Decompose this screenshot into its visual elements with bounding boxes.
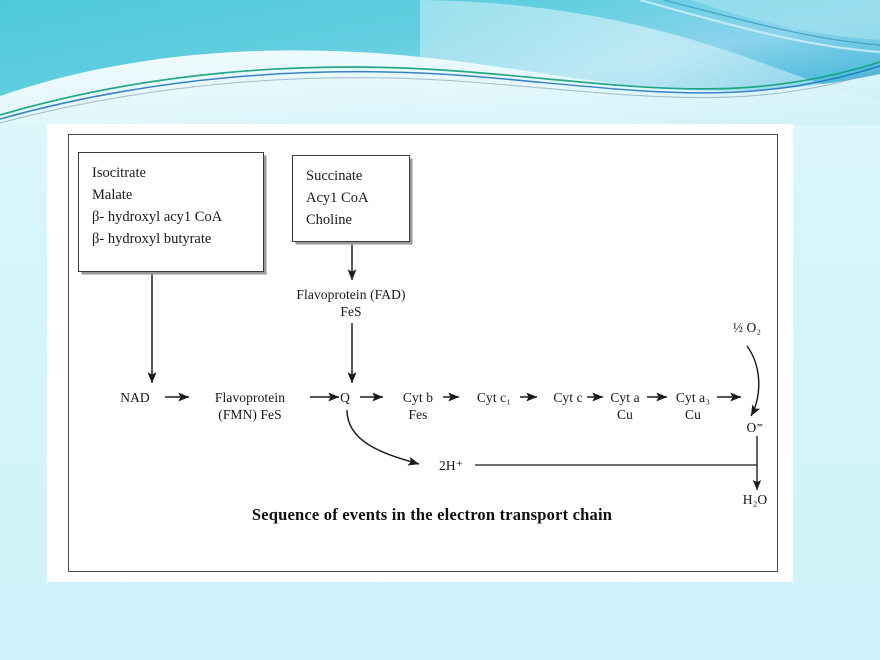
node-cytochrome-a: Cyt a Cu: [599, 390, 651, 424]
node-flavoprotein-fad: Flavoprotein (FAD) FeS: [277, 287, 425, 321]
node-oxide-ion: O⁼: [733, 420, 777, 437]
node-nad: NAD: [109, 390, 161, 407]
node-coenzyme-q: Q: [333, 390, 357, 407]
node-cytochrome-c: Cyt c: [539, 390, 597, 407]
slide-canvas: Isocitrate Malate β- hydroxyl acy1 CoA β…: [0, 0, 880, 660]
figure-caption: Sequence of events in the electron trans…: [222, 505, 642, 525]
node-cytochrome-c1: Cyt c₁: [463, 390, 525, 407]
node-cytochrome-b: Cyt b Fes: [387, 390, 449, 424]
node-cytochrome-a3: Cyt a₃ Cu: [665, 390, 721, 424]
node-water: H₂O: [731, 492, 779, 509]
flowing-wave-banner-icon: [0, 0, 880, 125]
figure-image: Isocitrate Malate β- hydroxyl acy1 CoA β…: [47, 124, 793, 582]
substrate-box-fad-linked: Succinate Acy1 CoA Choline: [292, 155, 410, 242]
substrate-box-nad-linked: Isocitrate Malate β- hydroxyl acy1 CoA β…: [78, 152, 264, 272]
node-flavoprotein-fmn: Flavoprotein (FMN) FeS: [195, 390, 305, 424]
node-half-oxygen: ½ O₂: [715, 320, 779, 337]
node-protons: 2H⁺: [429, 458, 473, 475]
